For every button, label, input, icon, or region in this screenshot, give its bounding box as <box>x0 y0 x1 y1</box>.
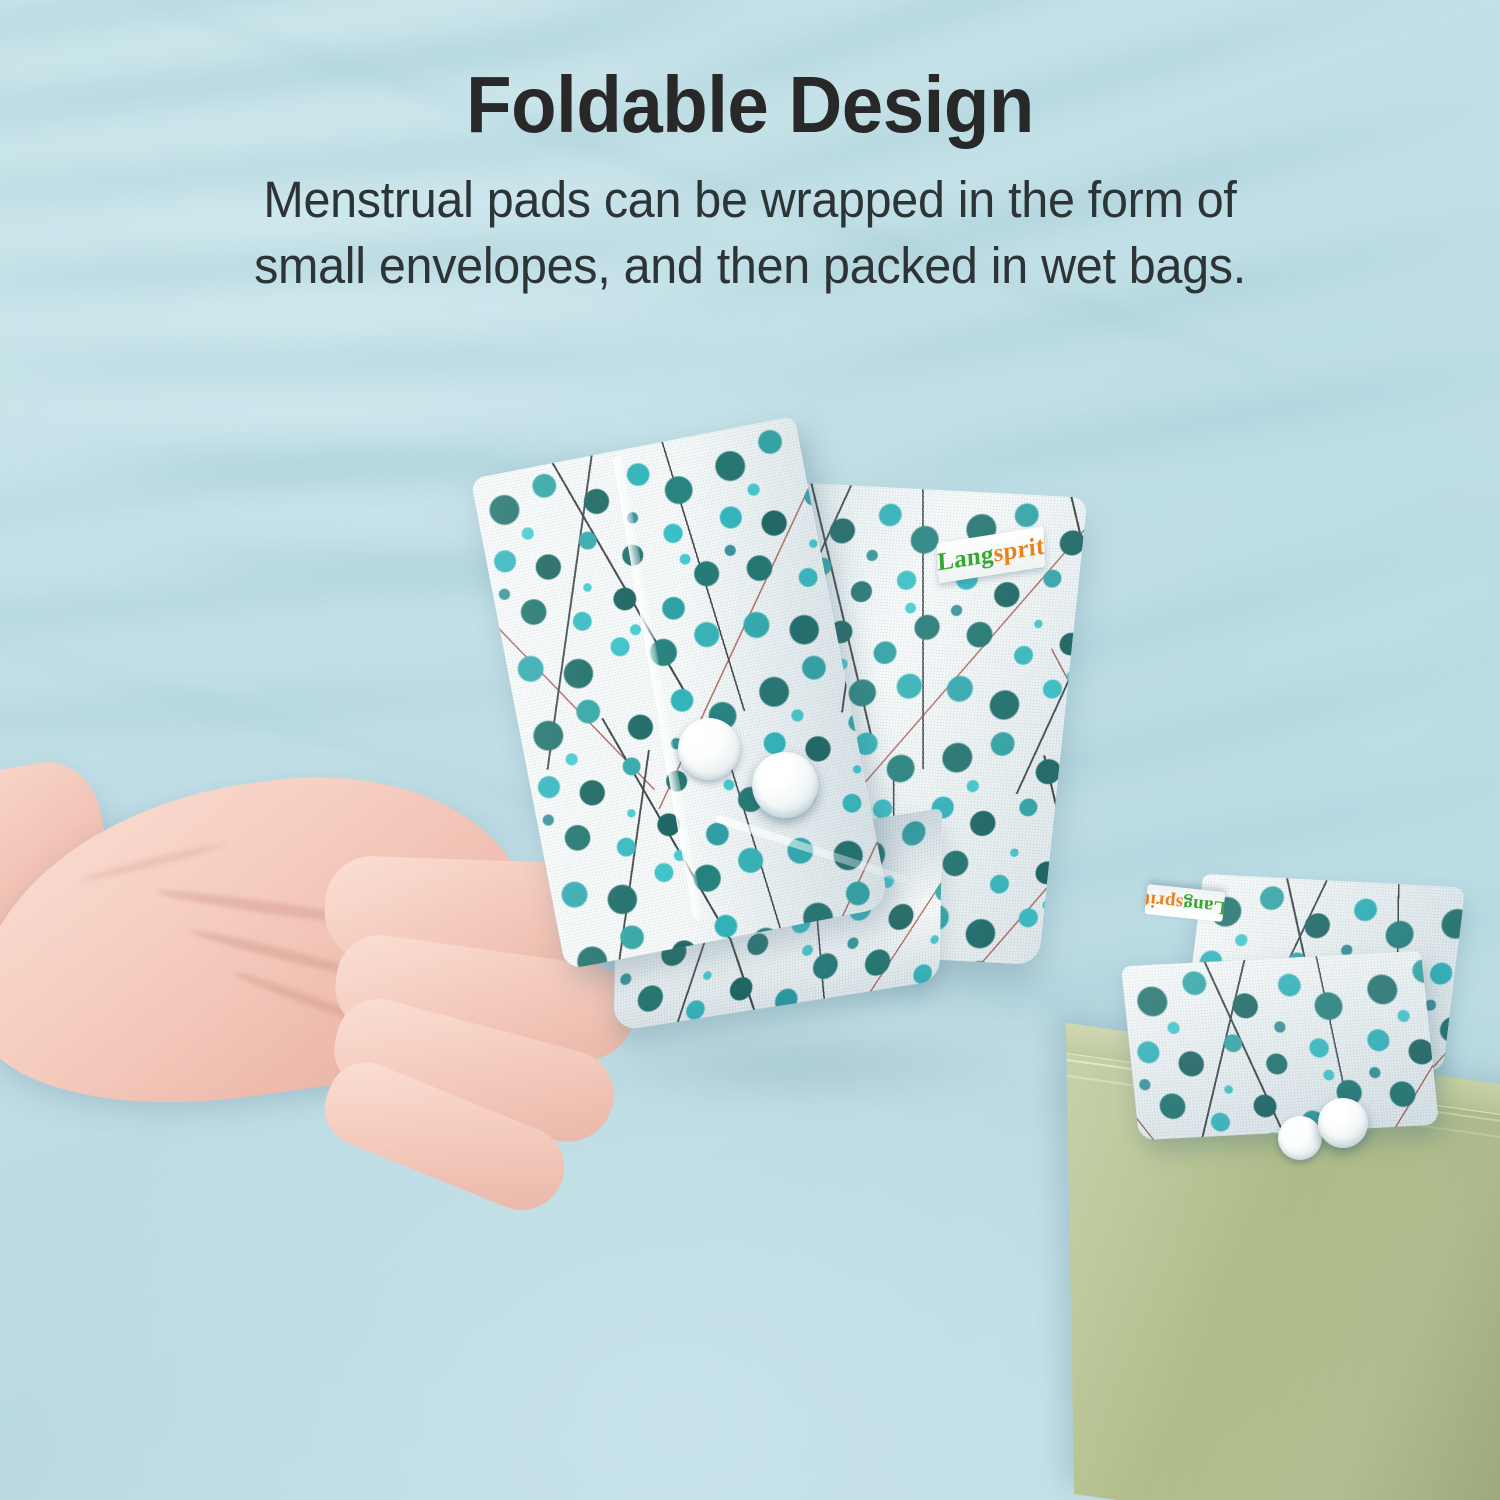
page-title: Foldable Design <box>53 58 1448 152</box>
folded-pad-main: Langsprit <box>505 435 1085 1055</box>
snap-button-female[interactable] <box>1278 1116 1322 1160</box>
snap-button-male[interactable] <box>1318 1098 1368 1148</box>
snap-button-female[interactable] <box>678 718 740 780</box>
pad-small-panel-front <box>1121 951 1439 1141</box>
subtitle-line-1: Menstrual pads can be wrapped in the for… <box>123 168 1377 232</box>
product-feature-image: Foldable Design Menstrual pads can be wr… <box>0 0 1500 1500</box>
snap-button-male[interactable] <box>752 752 818 818</box>
text-block: Foldable Design Menstrual pads can be wr… <box>0 58 1500 298</box>
brand-name: Langsprit <box>1145 888 1226 919</box>
wetbag-group: Langsprit <box>1040 860 1500 1500</box>
subtitle-line-2: small envelopes, and then packed in wet … <box>123 234 1377 298</box>
